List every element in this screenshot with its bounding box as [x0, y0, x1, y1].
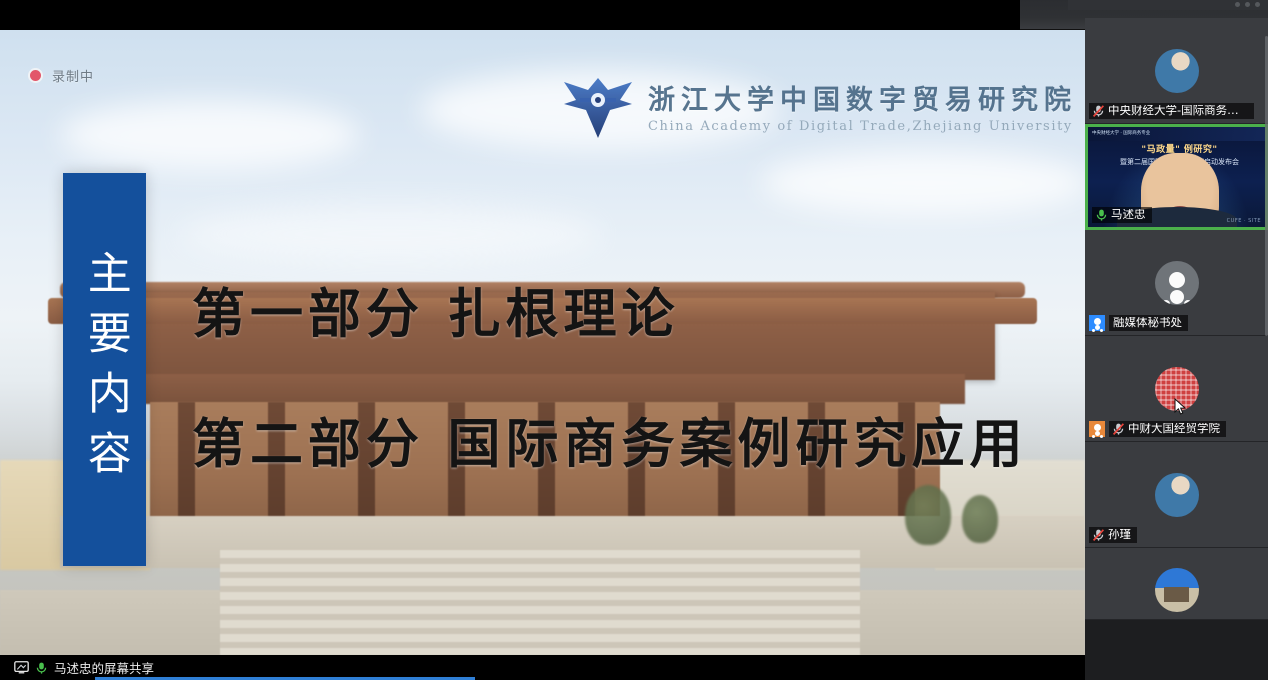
participant-name: 马述忠	[1111, 209, 1146, 221]
participant-name-row: 中财大国经贸学院	[1089, 421, 1226, 437]
avatar	[1155, 49, 1199, 93]
microphone-muted-icon	[1093, 529, 1104, 541]
microphone-muted-icon	[1113, 423, 1124, 435]
tree-decoration	[962, 495, 998, 543]
name-pill: 马述忠	[1092, 207, 1152, 223]
participant-tile[interactable]: 孙瑾	[1085, 442, 1268, 548]
screen-share-owner-label: 马述忠的屏幕共享	[54, 658, 154, 677]
eagle-logo-icon	[558, 70, 638, 142]
participant-name-row: 孙瑾	[1089, 527, 1137, 543]
record-dot-icon	[28, 68, 43, 83]
slide-section-title: 主要内容	[80, 250, 128, 490]
slide-heading-part-one: 第一部分 扎根理论	[192, 272, 679, 348]
participant-name: 孙瑾	[1108, 529, 1131, 541]
participant-tile[interactable]	[1085, 548, 1268, 620]
slide-section-banner: 主要内容	[63, 173, 146, 566]
cloud-decoration	[60, 100, 360, 170]
avatar	[1155, 473, 1199, 517]
window-control-dot[interactable]	[1255, 2, 1260, 7]
microphone-active-icon	[36, 662, 47, 674]
institute-logo: 浙江大学中国数字贸易研究院 China Academy of Digital T…	[558, 70, 1077, 142]
participant-tile[interactable]: 融媒体秘书处	[1085, 230, 1268, 336]
avatar	[1155, 568, 1199, 612]
window-control-dot[interactable]	[1245, 2, 1250, 7]
temple-lower-eave	[120, 374, 965, 404]
participant-name-row: 融媒体秘书处	[1089, 315, 1188, 331]
host-badge-icon	[1089, 315, 1105, 331]
microphone-active-icon	[1096, 209, 1107, 221]
video-overlay-banner: 中央财经大学 · 国际商务专业	[1088, 127, 1265, 141]
name-pill: 孙瑾	[1089, 527, 1137, 543]
temple-stairs	[220, 550, 860, 655]
name-pill: 中财大国经贸学院	[1109, 421, 1226, 437]
avatar	[1155, 261, 1199, 305]
window-control-dot[interactable]	[1235, 2, 1240, 7]
participant-name: 中央财经大学-国际商务专...	[1108, 105, 1248, 117]
screen-share-icon	[14, 661, 29, 674]
recording-indicator[interactable]: 录制中	[28, 66, 94, 85]
participant-name: 中财大国经贸学院	[1128, 423, 1220, 435]
participant-name-row: 中央财经大学-国际商务专...	[1089, 103, 1254, 119]
cloud-decoration	[760, 150, 1085, 216]
participant-tile-active-speaker[interactable]: 中央财经大学 · 国际商务专业 "马政量" 例研究" 暨第二届国际商务案例大赛启…	[1085, 124, 1268, 230]
logo-title-cn: 浙江大学中国数字贸易研究院	[648, 78, 1077, 117]
slide-heading-part-two: 第二部分 国际商务案例研究应用	[192, 402, 1027, 478]
participant-name-row: 马述忠	[1092, 207, 1152, 223]
participant-name: 融媒体秘书处	[1113, 317, 1182, 329]
tree-decoration	[905, 485, 951, 545]
zoom-meeting-window: 浙江大学中国数字贸易研究院 China Academy of Digital T…	[0, 0, 1268, 680]
participant-tile[interactable]: 中财大国经贸学院	[1085, 336, 1268, 442]
cloud-decoration	[180, 205, 600, 263]
name-pill: 融媒体秘书处	[1109, 315, 1188, 331]
cohost-badge-icon	[1089, 421, 1105, 437]
shared-screen-area[interactable]: 浙江大学中国数字贸易研究院 China Academy of Digital T…	[0, 30, 1085, 655]
microphone-muted-icon	[1093, 105, 1104, 117]
mouse-cursor	[1174, 398, 1186, 416]
window-controls[interactable]	[1235, 2, 1260, 7]
presentation-slide: 浙江大学中国数字贸易研究院 China Academy of Digital T…	[0, 30, 1085, 655]
participant-filmstrip[interactable]: 中央财经大学-国际商务专... 中央财经大学 · 国际商务专业 "马政量" 例研…	[1085, 18, 1268, 680]
video-watermark: CUFE · SITE	[1227, 218, 1261, 224]
logo-text-block: 浙江大学中国数字贸易研究院 China Academy of Digital T…	[648, 78, 1077, 134]
participant-tile[interactable]: 中央财经大学-国际商务专...	[1085, 18, 1268, 124]
logo-title-en: China Academy of Digital Trade,Zhejiang …	[648, 119, 1077, 134]
name-pill: 中央财经大学-国际商务专...	[1089, 103, 1254, 119]
recording-label: 录制中	[52, 66, 94, 85]
